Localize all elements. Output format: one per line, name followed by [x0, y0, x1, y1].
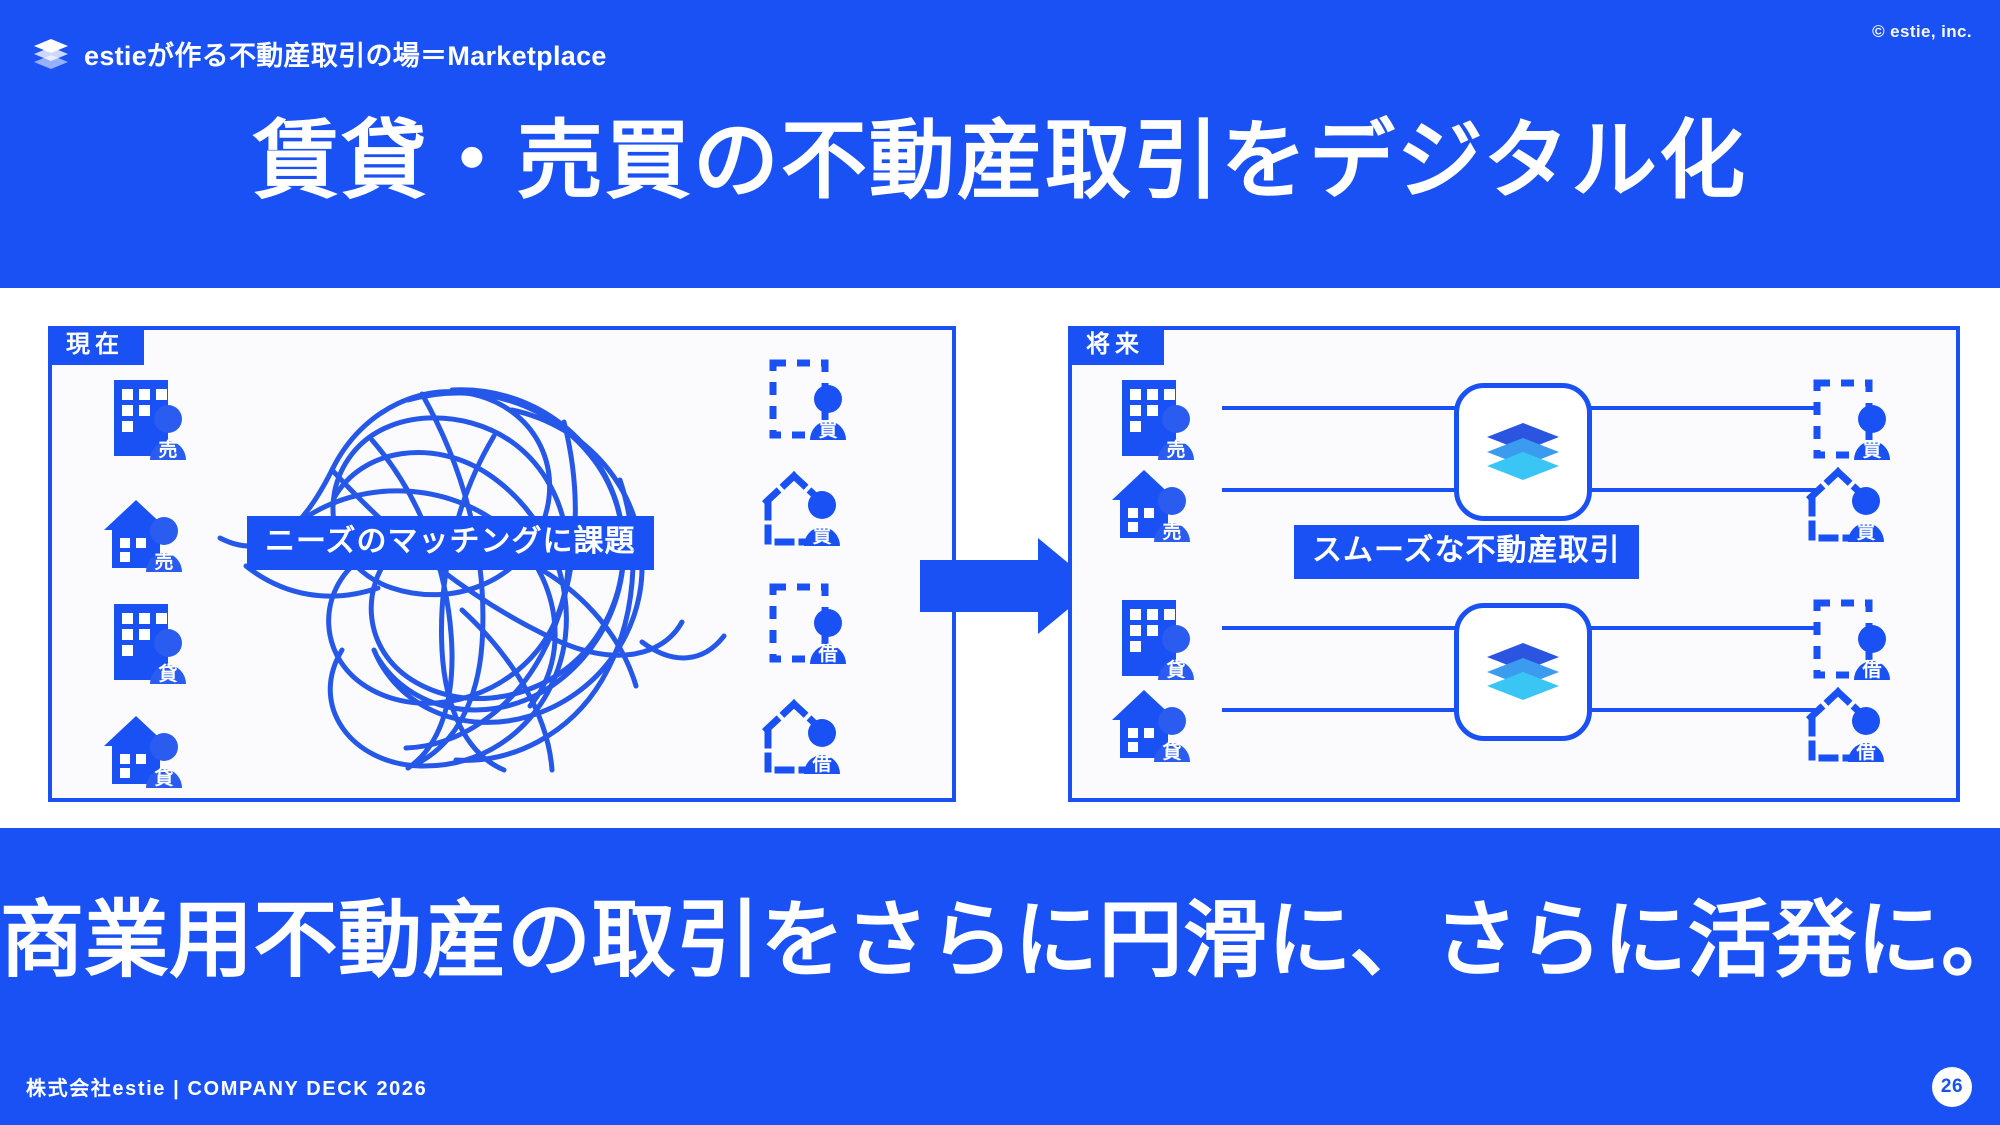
actor-label: 買 — [818, 419, 837, 441]
connector-line — [1222, 626, 1458, 630]
actor-buy-building: 買 — [1810, 374, 1902, 466]
tagline-text: 商業用不動産の取引をさらに円滑に、さらに活発に。 — [0, 898, 2000, 982]
actor-lease-building: 貸 — [1116, 594, 1208, 686]
estie-stack-logo-icon — [1487, 423, 1559, 481]
slide-root: estieが作る不動産取引の場＝Marketplace © estie, inc… — [0, 0, 2000, 1125]
actor-label: 借 — [811, 752, 831, 775]
actor-lease-house: 貸 — [102, 702, 194, 794]
future-state-ribbon: スムーズな不動産取引 — [1294, 525, 1639, 579]
estie-stack-logo-icon — [34, 39, 68, 69]
actor-label: 売 — [158, 438, 177, 461]
actor-label: 貸 — [157, 662, 177, 685]
actor-buy-house: 買 — [760, 460, 852, 552]
connector-line — [1582, 708, 1818, 712]
copyright-text: © estie, inc. — [1872, 22, 1972, 42]
actor-lease-building: 貸 — [108, 598, 200, 690]
connector-line — [1222, 488, 1458, 492]
actor-buy-building: 買 — [766, 354, 858, 446]
actor-rent-house: 借 — [1804, 676, 1896, 768]
actor-label: 売 — [154, 550, 173, 573]
estie-stack-logo-icon — [1487, 643, 1559, 701]
actor-label: 貸 — [1161, 740, 1181, 763]
connector-line — [1582, 406, 1818, 410]
actor-rent-building: 借 — [1810, 594, 1902, 686]
diagram-area: 現在 売 — [0, 288, 2000, 828]
current-state-panel: 現在 売 — [48, 326, 956, 802]
actor-rent-building: 借 — [766, 578, 858, 670]
actor-label: 買 — [812, 525, 831, 547]
top-banner: estieが作る不動産取引の場＝Marketplace © estie, inc… — [0, 0, 2000, 288]
actor-rent-house: 借 — [760, 688, 852, 780]
actor-label: 買 — [1856, 521, 1875, 543]
actor-sell-house: 売 — [102, 486, 194, 578]
page-number-badge: 26 — [1932, 1067, 1972, 1107]
connector-line — [1222, 406, 1458, 410]
future-state-panel: 将来 売 — [1068, 326, 1960, 802]
actor-sell-house: 売 — [1110, 456, 1202, 548]
actor-label: 売 — [1162, 520, 1181, 543]
actor-buy-house: 買 — [1804, 456, 1896, 548]
current-state-tag: 現在 — [48, 326, 144, 365]
actor-label: 貸 — [153, 766, 173, 789]
actor-label: 借 — [1855, 740, 1875, 763]
connector-line — [1582, 488, 1818, 492]
page-title: 賃貸・売買の不動産取引をデジタル化 — [0, 118, 2000, 204]
bottom-banner: 商業用不動産の取引をさらに円滑に、さらに活発に。 株式会社estie | COM… — [0, 828, 2000, 1125]
estie-hub-card-bottom — [1454, 603, 1592, 741]
estie-hub-card-top — [1454, 383, 1592, 521]
future-state-tag: 将来 — [1068, 326, 1164, 365]
actor-label: 借 — [817, 642, 837, 665]
actor-lease-house: 貸 — [1110, 676, 1202, 768]
actor-sell-building: 売 — [1116, 374, 1208, 466]
brand-title: estieが作る不動産取引の場＝Marketplace — [84, 34, 607, 73]
actor-sell-building: 売 — [108, 374, 200, 466]
connector-line — [1222, 708, 1458, 712]
current-state-ribbon: ニーズのマッチングに課題 — [247, 516, 654, 570]
connector-line — [1582, 626, 1818, 630]
footer-company-text: 株式会社estie | COMPANY DECK 2026 — [26, 1072, 427, 1101]
brand-bar: estieが作る不動産取引の場＝Marketplace — [34, 34, 607, 73]
